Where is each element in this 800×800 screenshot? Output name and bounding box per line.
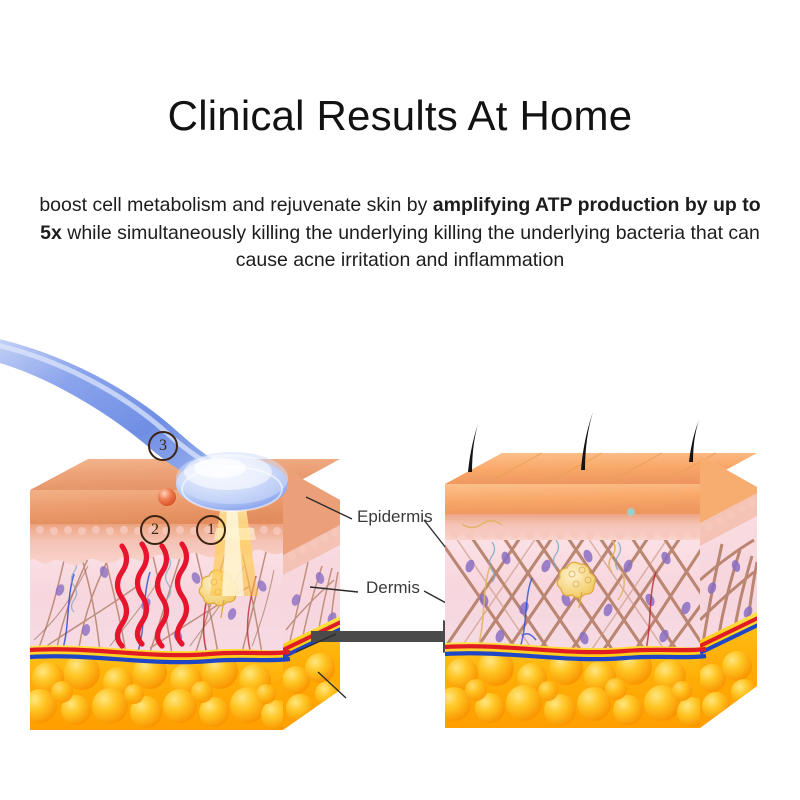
- page-subtitle: boost cell metabolism and rejuvenate ski…: [34, 192, 766, 275]
- subtitle-segment-3: while simultaneously killing the underly…: [62, 222, 760, 272]
- label-epidermis: Epidermis: [357, 507, 433, 527]
- left-vessel-band: [30, 645, 283, 663]
- right-vein: [445, 653, 706, 659]
- left-epidermis-top-surface: [30, 459, 340, 490]
- page-title: Clinical Results At Home: [0, 92, 800, 139]
- left-sebaceous-gland: [199, 570, 237, 618]
- skin-texture-lines: [486, 453, 716, 484]
- applicator-wand: [0, 337, 288, 511]
- label-dermis: Dermis: [366, 578, 420, 598]
- left-block-side-face: [282, 459, 345, 735]
- poster-canvas: Clinical Results At Home boost cell meta…: [0, 0, 800, 800]
- right-artery: [445, 646, 706, 652]
- right-epidermis-band: [445, 512, 700, 540]
- right-vessel-band: [445, 642, 700, 660]
- left-vein: [30, 656, 290, 662]
- right-block-side-face: [698, 453, 762, 735]
- right-sebaceous-gland: [557, 562, 595, 608]
- callout-3: 3: [148, 431, 178, 461]
- right-collagen-lattice: [440, 538, 712, 655]
- left-collagen-network: [34, 550, 274, 654]
- light-beam: [210, 492, 258, 596]
- right-epidermis-front: [445, 484, 700, 514]
- left-skin-block: [23, 459, 345, 735]
- subtitle-segment-1: boost cell metabolism and rejuvenate ski…: [39, 194, 432, 216]
- right-dermis-layer: [445, 535, 700, 652]
- hair-follicles: [468, 412, 699, 472]
- right-epidermis-top-surface: [445, 453, 757, 484]
- callout-1: 1: [196, 515, 226, 545]
- right-fat-layer: [437, 648, 707, 728]
- left-dermis-layer: [30, 545, 283, 656]
- acne-bacteria-particle: [158, 488, 176, 506]
- left-artery: [30, 649, 290, 655]
- callout-2: 2: [140, 515, 170, 545]
- left-fat-layer: [23, 652, 291, 730]
- wand-head: [176, 457, 288, 511]
- transformation-arrow: [311, 620, 481, 653]
- heat-waves: [118, 544, 187, 646]
- right-skin-block: [437, 412, 762, 735]
- right-sweat-pore: [627, 508, 635, 516]
- right-basal-cells: [451, 530, 699, 540]
